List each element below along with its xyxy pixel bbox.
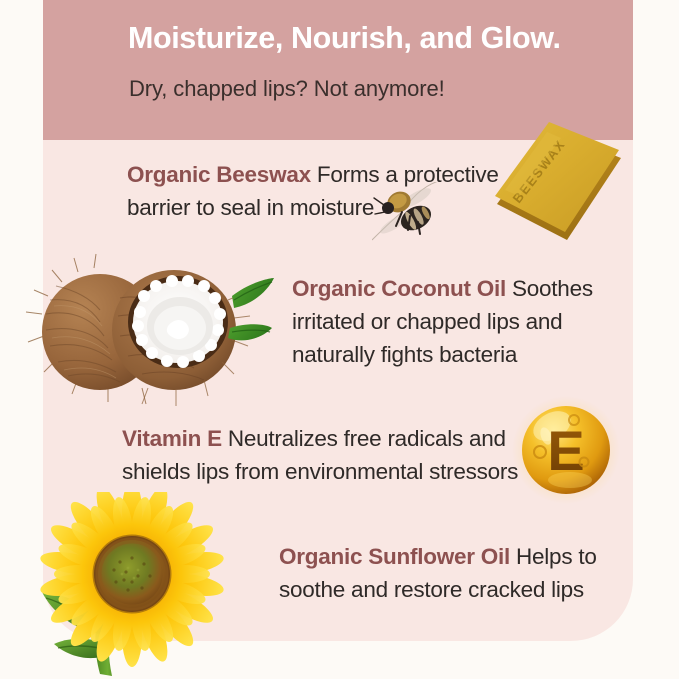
sunflower-icon — [8, 492, 240, 679]
vitamin-e-letter: E — [547, 419, 584, 482]
coconut-icon — [22, 252, 274, 412]
infographic-canvas: Moisturize, Nourish, and Glow. Dry, chap… — [0, 0, 679, 679]
benefit-item-beeswax: Organic Beeswax Forms a protective barri… — [127, 158, 547, 224]
page-title: Moisturize, Nourish, and Glow. — [128, 22, 633, 56]
page-subtitle: Dry, chapped lips? Not anymore! — [129, 76, 633, 102]
benefit-term-vitamin-e: Vitamin E — [122, 426, 222, 451]
beeswax-bar-icon: BEESWAX — [489, 118, 629, 253]
benefit-item-vitamin-e: Vitamin E Neutralizes free radicals and … — [122, 422, 567, 488]
bee-icon — [372, 182, 444, 244]
benefit-item-coconut: Organic Coconut Oil Soothes irritated or… — [292, 272, 633, 371]
vitamin-e-capsule-icon: E — [512, 396, 620, 504]
benefit-term-sunflower: Organic Sunflower Oil — [279, 544, 510, 569]
benefit-item-sunflower: Organic Sunflower Oil Helps to soothe an… — [279, 540, 633, 606]
benefit-term-beeswax: Organic Beeswax — [127, 162, 311, 187]
benefit-term-coconut: Organic Coconut Oil — [292, 276, 506, 301]
